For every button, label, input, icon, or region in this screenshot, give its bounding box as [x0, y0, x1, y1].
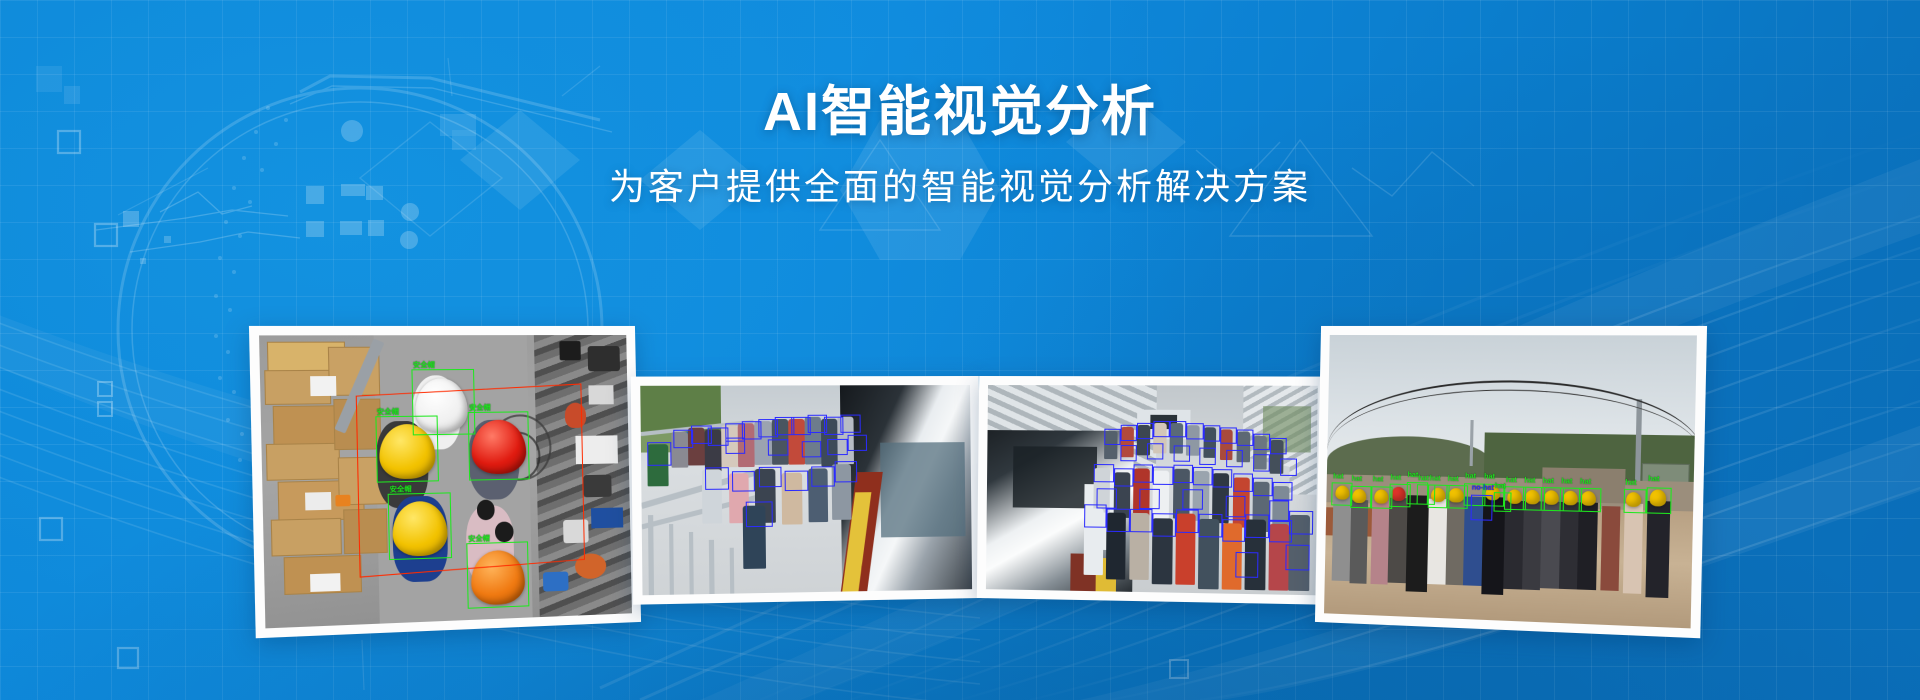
scene-train-platform: [640, 385, 972, 595]
detection-box-head: [1094, 464, 1114, 483]
showcase-gallery: 安全帽 安全帽 安全帽 安全帽 安全帽: [0, 318, 1920, 638]
banner-headings: AI智能视觉分析 为客户提供全面的智能视觉分析解决方案: [0, 84, 1920, 206]
detection-box-helmet: [388, 492, 452, 560]
detection-label-helmet: 安全帽: [390, 486, 412, 495]
detection-box-head: [1153, 466, 1173, 485]
detection-box-head: [801, 441, 821, 458]
detection-box-head: [746, 502, 773, 527]
detection-box-helmet: [467, 411, 530, 480]
detection-box-head: [1203, 425, 1220, 442]
detection-box-head: [1245, 515, 1269, 538]
detection-box-head: [834, 461, 857, 482]
detection-label-helmet: 安全帽: [468, 535, 490, 544]
detection-box-head: [1269, 500, 1289, 521]
detection-box-head: [1199, 514, 1223, 537]
detection-label-hat: hat: [1390, 474, 1401, 482]
detection-box-head: [1253, 477, 1273, 496]
detection-box-hat: [1350, 486, 1372, 509]
detection-box-hat: [1417, 485, 1435, 505]
detection-box-head: [1222, 519, 1246, 542]
detection-box-head: [725, 438, 745, 455]
detection-label-hat: hat: [1373, 477, 1384, 485]
detection-box-hat: [1578, 488, 1601, 512]
detection-label-hat: hat: [1625, 479, 1637, 488]
detection-box-head: [1173, 464, 1193, 483]
detection-box-head: [1200, 448, 1217, 465]
detection-box-head: [1193, 466, 1213, 485]
scene-construction-site-outdoor: hat hat hat hat hat hat hat hat: [1324, 335, 1697, 628]
detection-box-head: [1173, 446, 1190, 463]
detection-box-head: [1153, 421, 1170, 438]
detection-box-head: [673, 429, 693, 448]
detection-box-head: [828, 439, 848, 456]
detection-box-head: [785, 470, 808, 491]
detection-box-head: [1253, 434, 1270, 451]
detection-box-head: [732, 471, 756, 492]
detection-box-head: [1220, 427, 1237, 444]
page-title: AI智能视觉分析: [0, 84, 1920, 141]
gallery-photo-platform-head-detection[interactable]: [631, 376, 981, 605]
ai-vision-banner: AI智能视觉分析 为客户提供全面的智能视觉分析解决方案: [0, 0, 1920, 700]
gallery-photo-outdoor-hat-detection[interactable]: hat hat hat hat hat hat hat hat: [1315, 326, 1707, 638]
detection-box-head: [1104, 429, 1121, 446]
detection-label-hat: hat: [1543, 477, 1554, 486]
detection-label-hat: hat: [1408, 472, 1419, 480]
gallery-photo-crowd-head-detection[interactable]: [977, 376, 1327, 605]
detection-box-head: [1235, 552, 1259, 577]
detection-box-head: [1152, 514, 1175, 537]
detection-label-hat: hat: [1430, 475, 1441, 483]
detection-box-head: [1121, 425, 1138, 442]
detection-box-head: [1176, 510, 1199, 533]
detection-box-hat: [1623, 489, 1646, 513]
detection-label-hat: hat: [1333, 473, 1344, 481]
detection-box-helmet: [411, 369, 475, 435]
detection-box-head: [1270, 438, 1287, 455]
detection-box-head: [1233, 473, 1253, 492]
detection-box-head: [840, 414, 860, 433]
detection-box-head: [1114, 468, 1134, 487]
detection-box-head: [1120, 445, 1137, 462]
detection-label-helmet: 安全帽: [413, 362, 435, 370]
detection-box-head: [1147, 443, 1164, 460]
detection-label-hat: hat: [1448, 475, 1459, 483]
detection-label-hat: hat: [1524, 477, 1535, 485]
detection-box-head: [648, 442, 672, 465]
detection-label-hat: hat: [1495, 483, 1506, 491]
detection-box-helmet: [466, 541, 529, 608]
detection-box-head: [1273, 482, 1293, 501]
detection-box-head: [1285, 545, 1309, 570]
detection-box-head: [1106, 509, 1129, 532]
detection-box-head: [758, 466, 781, 487]
detection-box-head: [1280, 459, 1297, 476]
detection-box-head: [1137, 423, 1154, 440]
detection-box-head: [1140, 489, 1160, 510]
detection-label-hat: hat: [1465, 473, 1476, 481]
detection-box-head: [847, 435, 867, 452]
detection-label-hat: hat: [1648, 476, 1660, 485]
detection-label-hat: hat: [1484, 473, 1495, 481]
detection-box-head: [1170, 421, 1187, 438]
detection-box-head: [1226, 496, 1246, 517]
detection-box-head: [1097, 488, 1117, 509]
detection-label-hat: hat: [1580, 478, 1591, 487]
detection-label-hat: hat: [1352, 476, 1363, 484]
page-subtitle: 为客户提供全面的智能视觉分析解决方案: [0, 167, 1920, 207]
detection-box-hat: [1646, 487, 1672, 514]
detection-box-head: [705, 467, 729, 490]
detection-box-hat: [1493, 492, 1512, 512]
detection-label-hat: hat: [1506, 477, 1517, 485]
gallery-photo-warehouse-helmet-detection[interactable]: 安全帽 安全帽 安全帽 安全帽 安全帽: [249, 326, 641, 638]
detection-box-head: [1187, 423, 1204, 440]
detection-box-head: [1133, 464, 1153, 483]
detection-box-no-hat: [1470, 494, 1492, 520]
detection-box-head: [811, 466, 834, 487]
detection-label-helmet: 安全帽: [377, 409, 399, 418]
detection-label-hat: hat: [1561, 478, 1572, 487]
detection-label-no-hat: no-hat: [1472, 484, 1494, 493]
scene-crowded-train-platform: [986, 385, 1318, 595]
detection-box-head: [1129, 509, 1152, 532]
scene-warehouse-overhead: 安全帽 安全帽 安全帽 安全帽 安全帽: [259, 335, 632, 628]
detection-box-head: [1182, 489, 1202, 510]
detection-box-head: [1289, 511, 1313, 534]
detection-box-head: [1236, 429, 1253, 446]
detection-box-head: [1253, 454, 1270, 471]
detection-box-head: [768, 439, 788, 456]
detection-box-head: [1226, 450, 1243, 467]
detection-box-head: [1213, 469, 1233, 488]
detection-label-hat: hat: [1418, 476, 1429, 484]
